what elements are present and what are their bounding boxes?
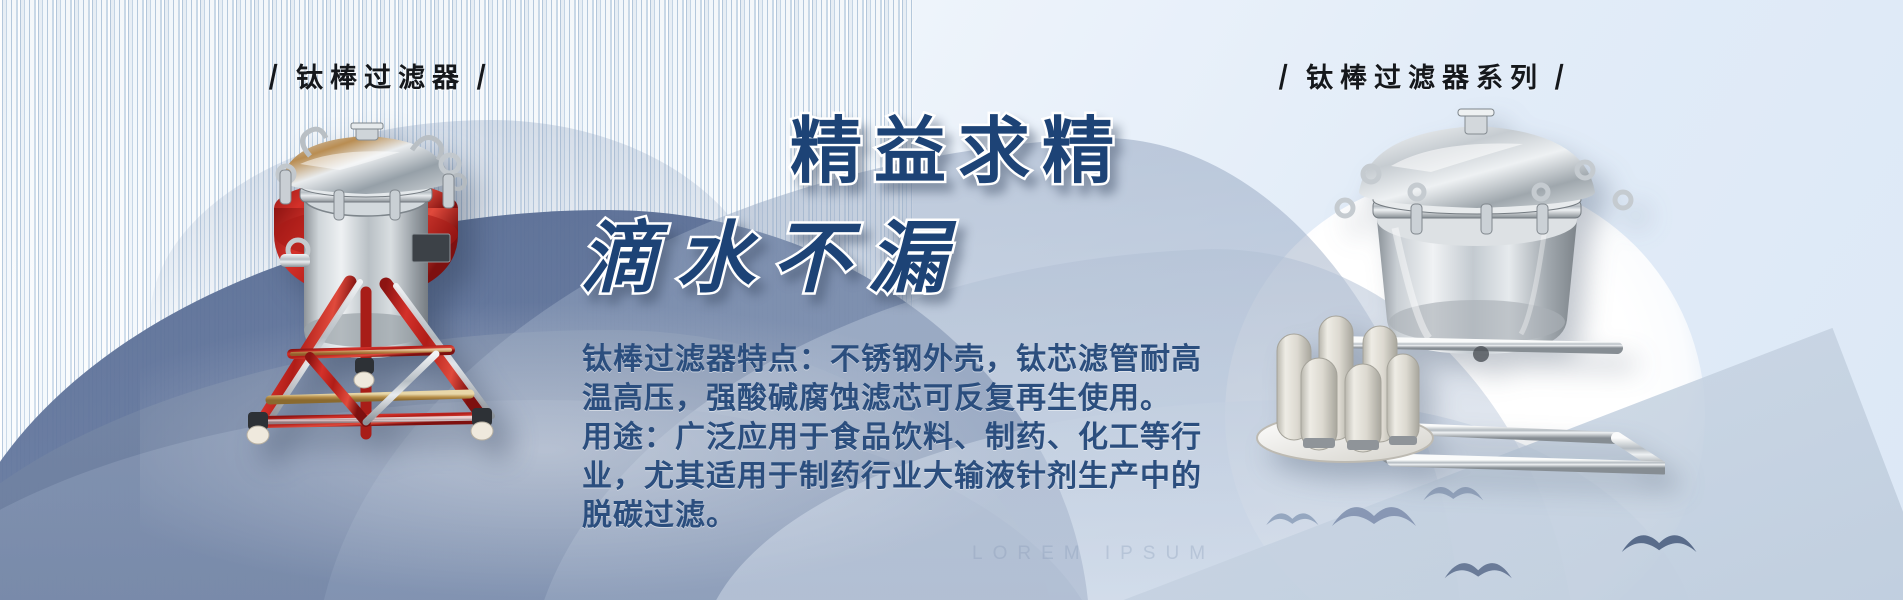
title-rule-right: 丨 <box>1540 56 1586 95</box>
section-title-left-text: 钛棒过滤器 <box>296 63 466 93</box>
title-rule-right: 丨 <box>462 56 508 95</box>
title-rule-left: 丨 <box>254 56 300 95</box>
description-line: 温高压，强酸碱腐蚀滤芯可反复再生使用。 <box>582 379 1212 418</box>
section-title-right-text: 钛棒过滤器系列 <box>1306 63 1544 93</box>
product-description: 钛棒过滤器特点：不锈钢外壳，钛芯滤管耐高 温高压，强酸碱腐蚀滤芯可反复再生使用。… <box>582 340 1212 535</box>
promo-banner: 丨钛棒过滤器丨 丨钛棒过滤器系列丨 精益求精 滴水不漏 钛棒过滤器特点：不锈钢外… <box>0 0 1903 600</box>
product-image-right <box>1245 108 1665 508</box>
description-line: 业，尤其适用于制药行业大输液针剂生产中的 <box>582 457 1212 496</box>
product-image-left <box>200 122 530 452</box>
title-rule-left: 丨 <box>1264 56 1310 95</box>
description-line: 脱碳过滤。 <box>582 496 1212 535</box>
headline-line-2: 滴水不漏 <box>580 196 964 308</box>
watermark-text: LOREM IPSUM <box>972 543 1215 565</box>
headline-line-1: 精益求精 <box>790 92 1126 197</box>
description-line: 用途：广泛应用于食品饮料、制药、化工等行 <box>582 418 1212 457</box>
bird-icon <box>1265 508 1321 531</box>
section-title-right: 丨钛棒过滤器系列丨 <box>1268 56 1582 95</box>
bird-icon <box>1620 528 1700 560</box>
description-line: 钛棒过滤器特点：不锈钢外壳，钛芯滤管耐高 <box>582 340 1212 379</box>
bird-icon <box>1443 556 1515 586</box>
section-title-left: 丨钛棒过滤器丨 <box>258 56 504 95</box>
